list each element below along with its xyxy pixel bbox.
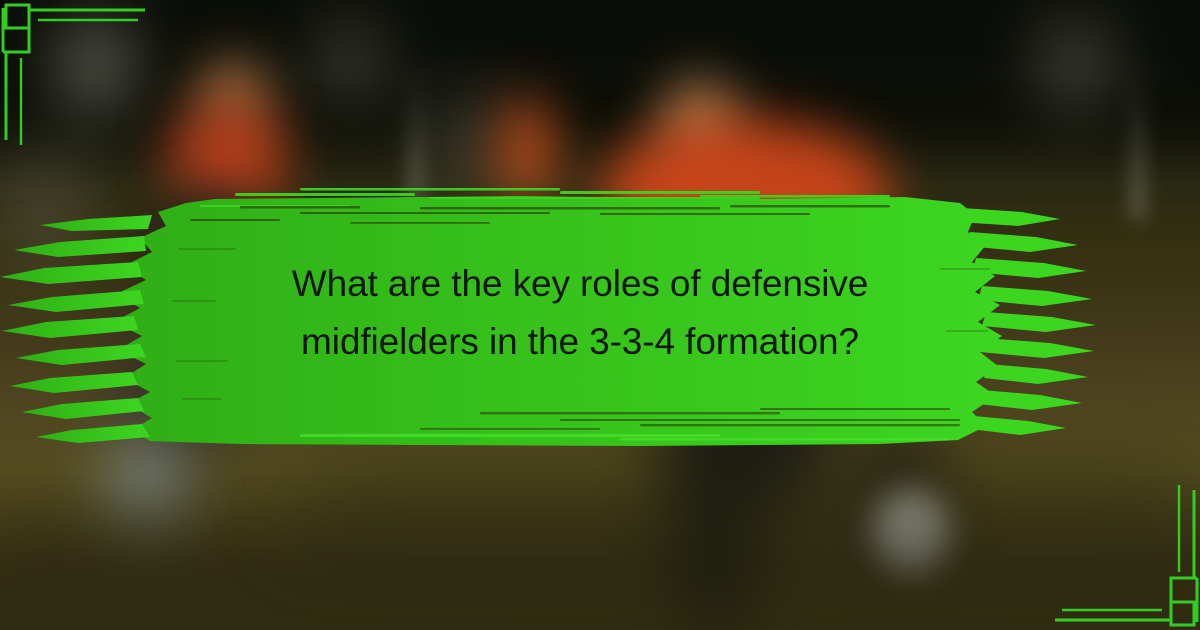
brush-left-fringe [0,215,152,443]
question-card: What are the key roles of defensive midf… [0,0,1200,630]
page-title: What are the key roles of defensive midf… [175,255,985,371]
